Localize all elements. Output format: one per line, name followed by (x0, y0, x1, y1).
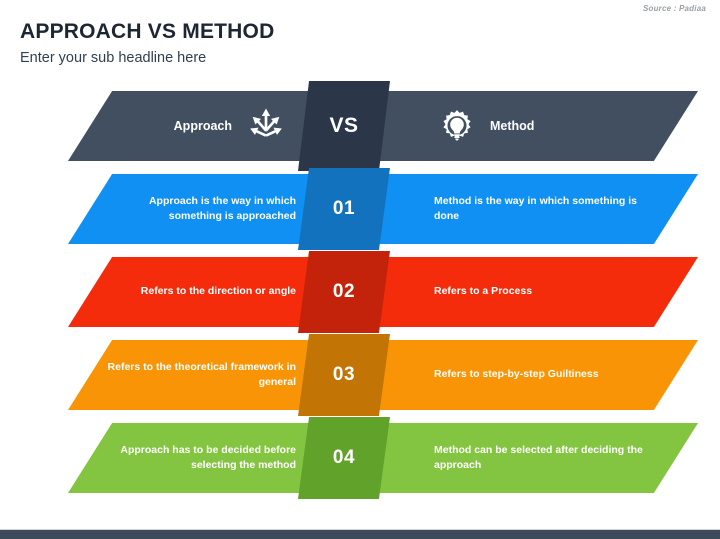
comparison-row-02: Refers to the direction or angle 02 Refe… (0, 251, 720, 333)
row-approach-text: Approach is the way in which something i… (100, 174, 310, 244)
header-approach-label: Approach (174, 117, 232, 135)
header-method-cell: Method (430, 91, 650, 161)
row-approach-text: Refers to the direction or angle (100, 257, 310, 327)
comparison-row-01: Approach is the way in which something i… (0, 168, 720, 250)
row-method-text: Method is the way in which something is … (420, 174, 650, 244)
multi-arrow-icon (246, 106, 286, 146)
header-approach-cell: Approach (90, 91, 290, 161)
row-number-badge: 04 (298, 417, 390, 499)
row-approach-text: Approach has to be decided before select… (100, 423, 310, 493)
comparison-diagram: Approach VS (0, 85, 720, 505)
footer-bar (0, 529, 720, 539)
row-number-badge: 03 (298, 334, 390, 416)
comparison-row-04: Approach has to be decided before select… (0, 417, 720, 499)
page-subtitle: Enter your sub headline here (20, 50, 206, 66)
header-method-label: Method (490, 117, 534, 135)
slide-canvas: Source : Padiaa APPROACH VS METHOD Enter… (0, 0, 720, 539)
row-number-badge: 01 (298, 168, 390, 250)
row-approach-text: Refers to the theoretical framework in g… (100, 340, 310, 410)
diagram-header-row: Approach VS (0, 85, 720, 167)
header-vs-badge: VS (298, 81, 390, 171)
source-attribution: Source : Padiaa (643, 4, 706, 13)
page-title: APPROACH VS METHOD (20, 20, 274, 44)
comparison-row-03: Refers to the theoretical framework in g… (0, 334, 720, 416)
row-method-text: Refers to step-by-step Guiltiness (420, 340, 650, 410)
gear-lightbulb-icon (438, 107, 476, 145)
row-method-text: Refers to a Process (420, 257, 650, 327)
row-number-badge: 02 (298, 251, 390, 333)
row-method-text: Method can be selected after deciding th… (420, 423, 650, 493)
